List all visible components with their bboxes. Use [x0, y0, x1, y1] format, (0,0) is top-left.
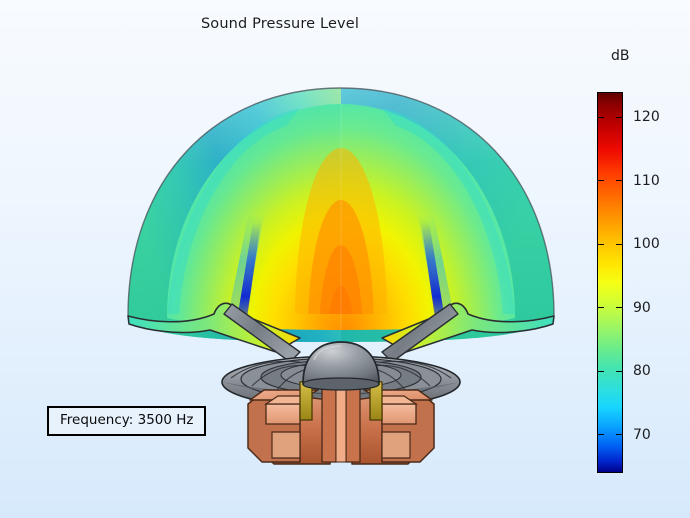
3d-scene[interactable] [0, 0, 580, 518]
colorbar-tick-label: 110 [633, 173, 660, 189]
colorbar-tick [597, 117, 623, 118]
colorbar-tick-label: 70 [633, 427, 651, 443]
colorbar-tick [597, 244, 623, 245]
colorbar-gradient[interactable] [597, 92, 623, 473]
colorbar-tick [597, 181, 623, 182]
colorbar-tick-label: 120 [633, 109, 660, 125]
colorbar-tick [597, 371, 623, 372]
visualization-canvas: Sound Pressure Level [0, 0, 690, 518]
driver-dust-cap [303, 342, 379, 390]
colorbar-unit-label: dB [611, 48, 630, 64]
colorbar-tick-label: 100 [633, 236, 660, 252]
loudspeaker-driver [222, 342, 460, 464]
colorbar-tick-label: 90 [633, 300, 651, 316]
frequency-annotation[interactable]: Frequency: 3500 Hz [47, 406, 206, 436]
colorbar-tick [597, 435, 623, 436]
colorbar-tick [597, 308, 623, 309]
colorbar-tick-label: 80 [633, 363, 651, 379]
